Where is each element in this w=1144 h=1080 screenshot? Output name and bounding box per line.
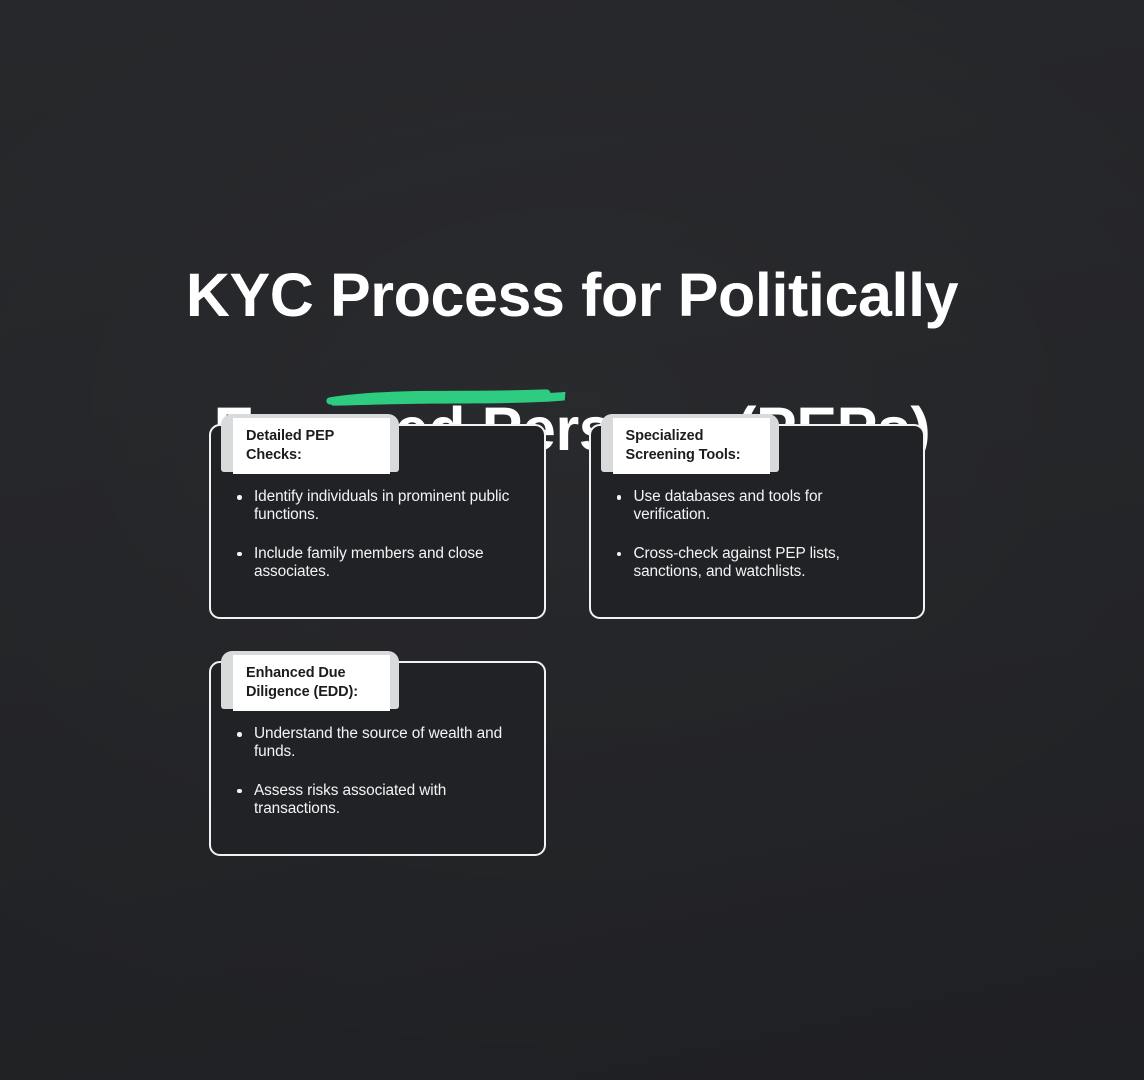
list-item-text: Understand the source of wealth and fund… bbox=[254, 725, 502, 760]
bullet-dot-icon bbox=[617, 552, 622, 557]
title-text-after: for Politically bbox=[565, 261, 959, 329]
card-detailed-pep-checks[interactable]: Detailed PEP Checks: Identify individual… bbox=[209, 424, 546, 619]
cards-grid: Detailed PEP Checks: Identify individual… bbox=[209, 424, 925, 856]
title-line-1: KYC Process for Politically bbox=[100, 262, 1044, 329]
list-item: Assess risks associated with transaction… bbox=[233, 782, 522, 819]
card-bullet-list: Understand the source of wealth and fund… bbox=[233, 725, 522, 818]
slide-canvas: KYC Process for Politically Exposed Pers… bbox=[0, 0, 1144, 1080]
card-row-1: Detailed PEP Checks: Identify individual… bbox=[209, 424, 925, 619]
card-bullet-list: Identify individuals in prominent public… bbox=[233, 488, 522, 581]
title-text-before: KYC bbox=[186, 261, 330, 329]
bullet-dot-icon bbox=[617, 495, 622, 500]
list-item-text: Cross-check against PEP lists, sanctions… bbox=[634, 545, 840, 580]
card-enhanced-due-diligence[interactable]: Enhanced Due Diligence (EDD): Understand… bbox=[209, 661, 546, 856]
card-label: Detailed PEP Checks: bbox=[233, 418, 390, 474]
bullet-dot-icon bbox=[237, 732, 242, 737]
bullet-dot-icon bbox=[237, 552, 242, 557]
bullet-dot-icon bbox=[237, 495, 242, 500]
card-label: Specialized Screening Tools: bbox=[613, 418, 770, 474]
list-item: Identify individuals in prominent public… bbox=[233, 488, 522, 525]
list-item-text: Assess risks associated with transaction… bbox=[254, 782, 446, 817]
list-item-text: Identify individuals in prominent public… bbox=[254, 488, 509, 523]
list-item: Understand the source of wealth and fund… bbox=[233, 725, 522, 762]
card-specialized-screening-tools[interactable]: Specialized Screening Tools: Use databas… bbox=[589, 424, 926, 619]
list-item-text: Include family members and close associa… bbox=[254, 545, 483, 580]
bullet-dot-icon bbox=[237, 789, 242, 794]
card-row-2: Enhanced Due Diligence (EDD): Understand… bbox=[209, 661, 925, 856]
card-bullet-list: Use databases and tools for verification… bbox=[613, 488, 902, 581]
list-item: Include family members and close associa… bbox=[233, 545, 522, 582]
title-highlight-text: Process bbox=[330, 261, 565, 329]
card-label: Enhanced Due Diligence (EDD): bbox=[233, 655, 390, 711]
list-item: Cross-check against PEP lists, sanctions… bbox=[613, 545, 902, 582]
list-item: Use databases and tools for verification… bbox=[613, 488, 902, 525]
list-item-text: Use databases and tools for verification… bbox=[634, 488, 823, 523]
title-highlight-word: Process bbox=[330, 262, 565, 329]
